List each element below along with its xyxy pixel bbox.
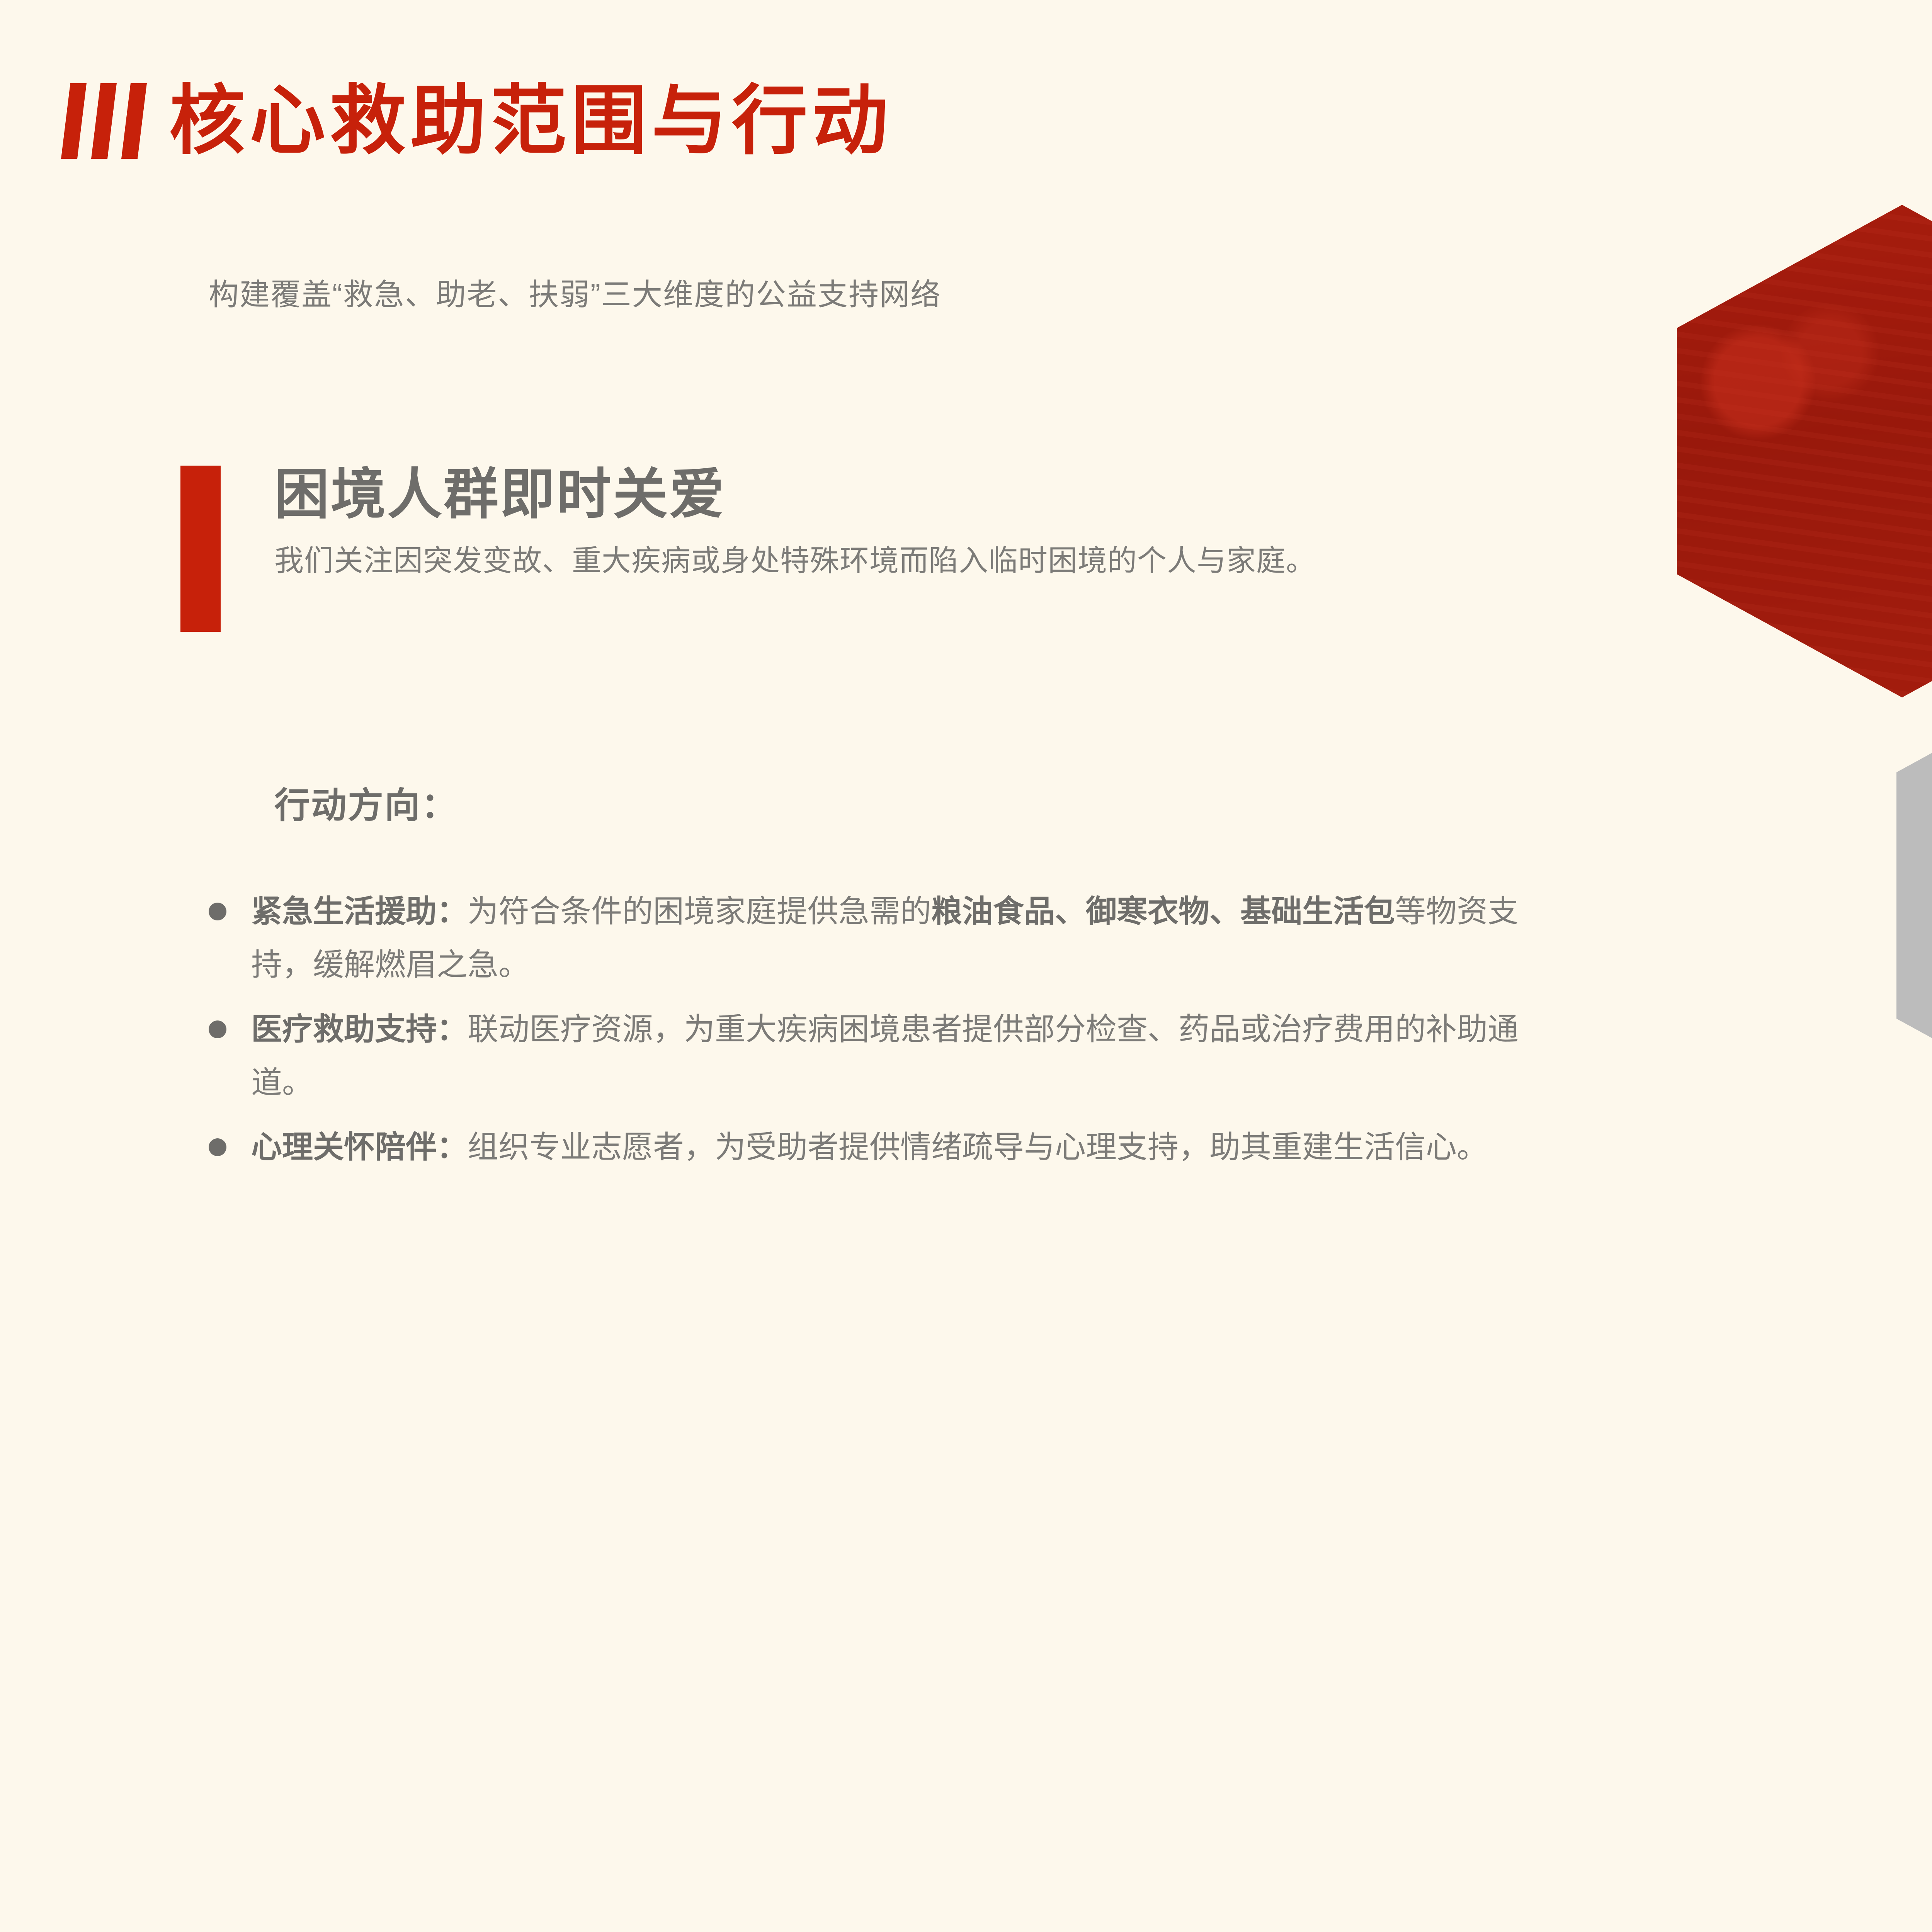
action-bullet-list: 紧急生活援助：为符合条件的困境家庭提供急需的粮油食品、御寒衣物、基础生活包等物资…: [209, 885, 1577, 1185]
bullet-dot-icon: [209, 1020, 226, 1038]
hexagon-label-zhulao[interactable]: 助老: [1896, 649, 1932, 1142]
section-description: 我们关注因突发变故、重大疾病或身处特殊环境而陷入临时困境的个人与家庭。: [274, 537, 1588, 585]
hexagon-cluster: 救急 助老 扶弱: [1673, 205, 1932, 1619]
bullet-lead: 心理关怀陪伴: [251, 1130, 437, 1164]
hexagon-photo-children-outdoors[interactable]: [1677, 205, 1932, 697]
bullet-dot-icon: [209, 1138, 226, 1156]
list-item: 医疗救助支持：联动医疗资源，为重大疾病困境患者提供部分检查、药品或治疗费用的补助…: [209, 1003, 1577, 1109]
list-item: 紧急生活援助：为符合条件的困境家庭提供急需的粮油食品、御寒衣物、基础生活包等物资…: [209, 885, 1577, 991]
bullet-text: 心理关怀陪伴：组织专业志愿者，为受助者提供情绪疏导与心理支持，助其重建生活信心。: [251, 1121, 1577, 1174]
bullet-separator: ：: [437, 894, 468, 929]
red-overlay-2: [1677, 205, 1932, 697]
bullet-dot-icon: [209, 903, 226, 920]
title-marks-icon: [66, 83, 142, 159]
bullet-separator-3: 、: [1209, 894, 1240, 929]
action-direction-heading: 行动方向：: [274, 777, 458, 828]
bullet-body-1: 组织专业志愿者，为受助者提供情绪疏导与心理支持，助其重建生活信心。: [468, 1130, 1488, 1164]
bullet-lead: 医疗救助支持: [251, 1012, 437, 1046]
page-title: 核心救助范围与行动: [169, 83, 893, 159]
bullet-strong-1: 粮油食品: [931, 894, 1055, 929]
bullet-separator-2: 、: [1055, 894, 1086, 929]
section-accent-bar: [180, 466, 221, 632]
page-subtitle: 构建覆盖“救急、助老、扶弱”三大维度的公益支持网络: [209, 270, 941, 314]
bullet-lead: 紧急生活援助: [251, 894, 437, 929]
page-title-row: 核心救助范围与行动: [66, 83, 893, 159]
section-block: 困境人群即时关爱 我们关注因突发变故、重大疾病或身处特殊环境而陷入临时困境的个人…: [180, 466, 1610, 585]
title-mark-3: [121, 83, 147, 159]
section-title: 困境人群即时关爱: [274, 466, 1610, 523]
bullet-strong-2: 御寒衣物: [1086, 894, 1209, 929]
bullet-separator: ：: [437, 1012, 468, 1046]
bullet-strong-3: 基础生活包: [1240, 894, 1395, 929]
bullet-text: 紧急生活援助：为符合条件的困境家庭提供急需的粮油食品、御寒衣物、基础生活包等物资…: [251, 885, 1577, 991]
list-item: 心理关怀陪伴：组织专业志愿者，为受助者提供情绪疏导与心理支持，助其重建生活信心。: [209, 1121, 1577, 1174]
bullet-separator: ：: [437, 1130, 468, 1164]
bullet-text: 医疗救助支持：联动医疗资源，为重大疾病困境患者提供部分检查、药品或治疗费用的补助…: [251, 1003, 1577, 1109]
title-mark-1: [61, 83, 87, 159]
title-mark-2: [91, 83, 117, 159]
slide-canvas: 核心救助范围与行动 构建覆盖“救急、助老、扶弱”三大维度的公益支持网络 困境人群…: [0, 0, 1932, 1669]
bullet-body-1: 为符合条件的困境家庭提供急需的: [468, 894, 931, 929]
